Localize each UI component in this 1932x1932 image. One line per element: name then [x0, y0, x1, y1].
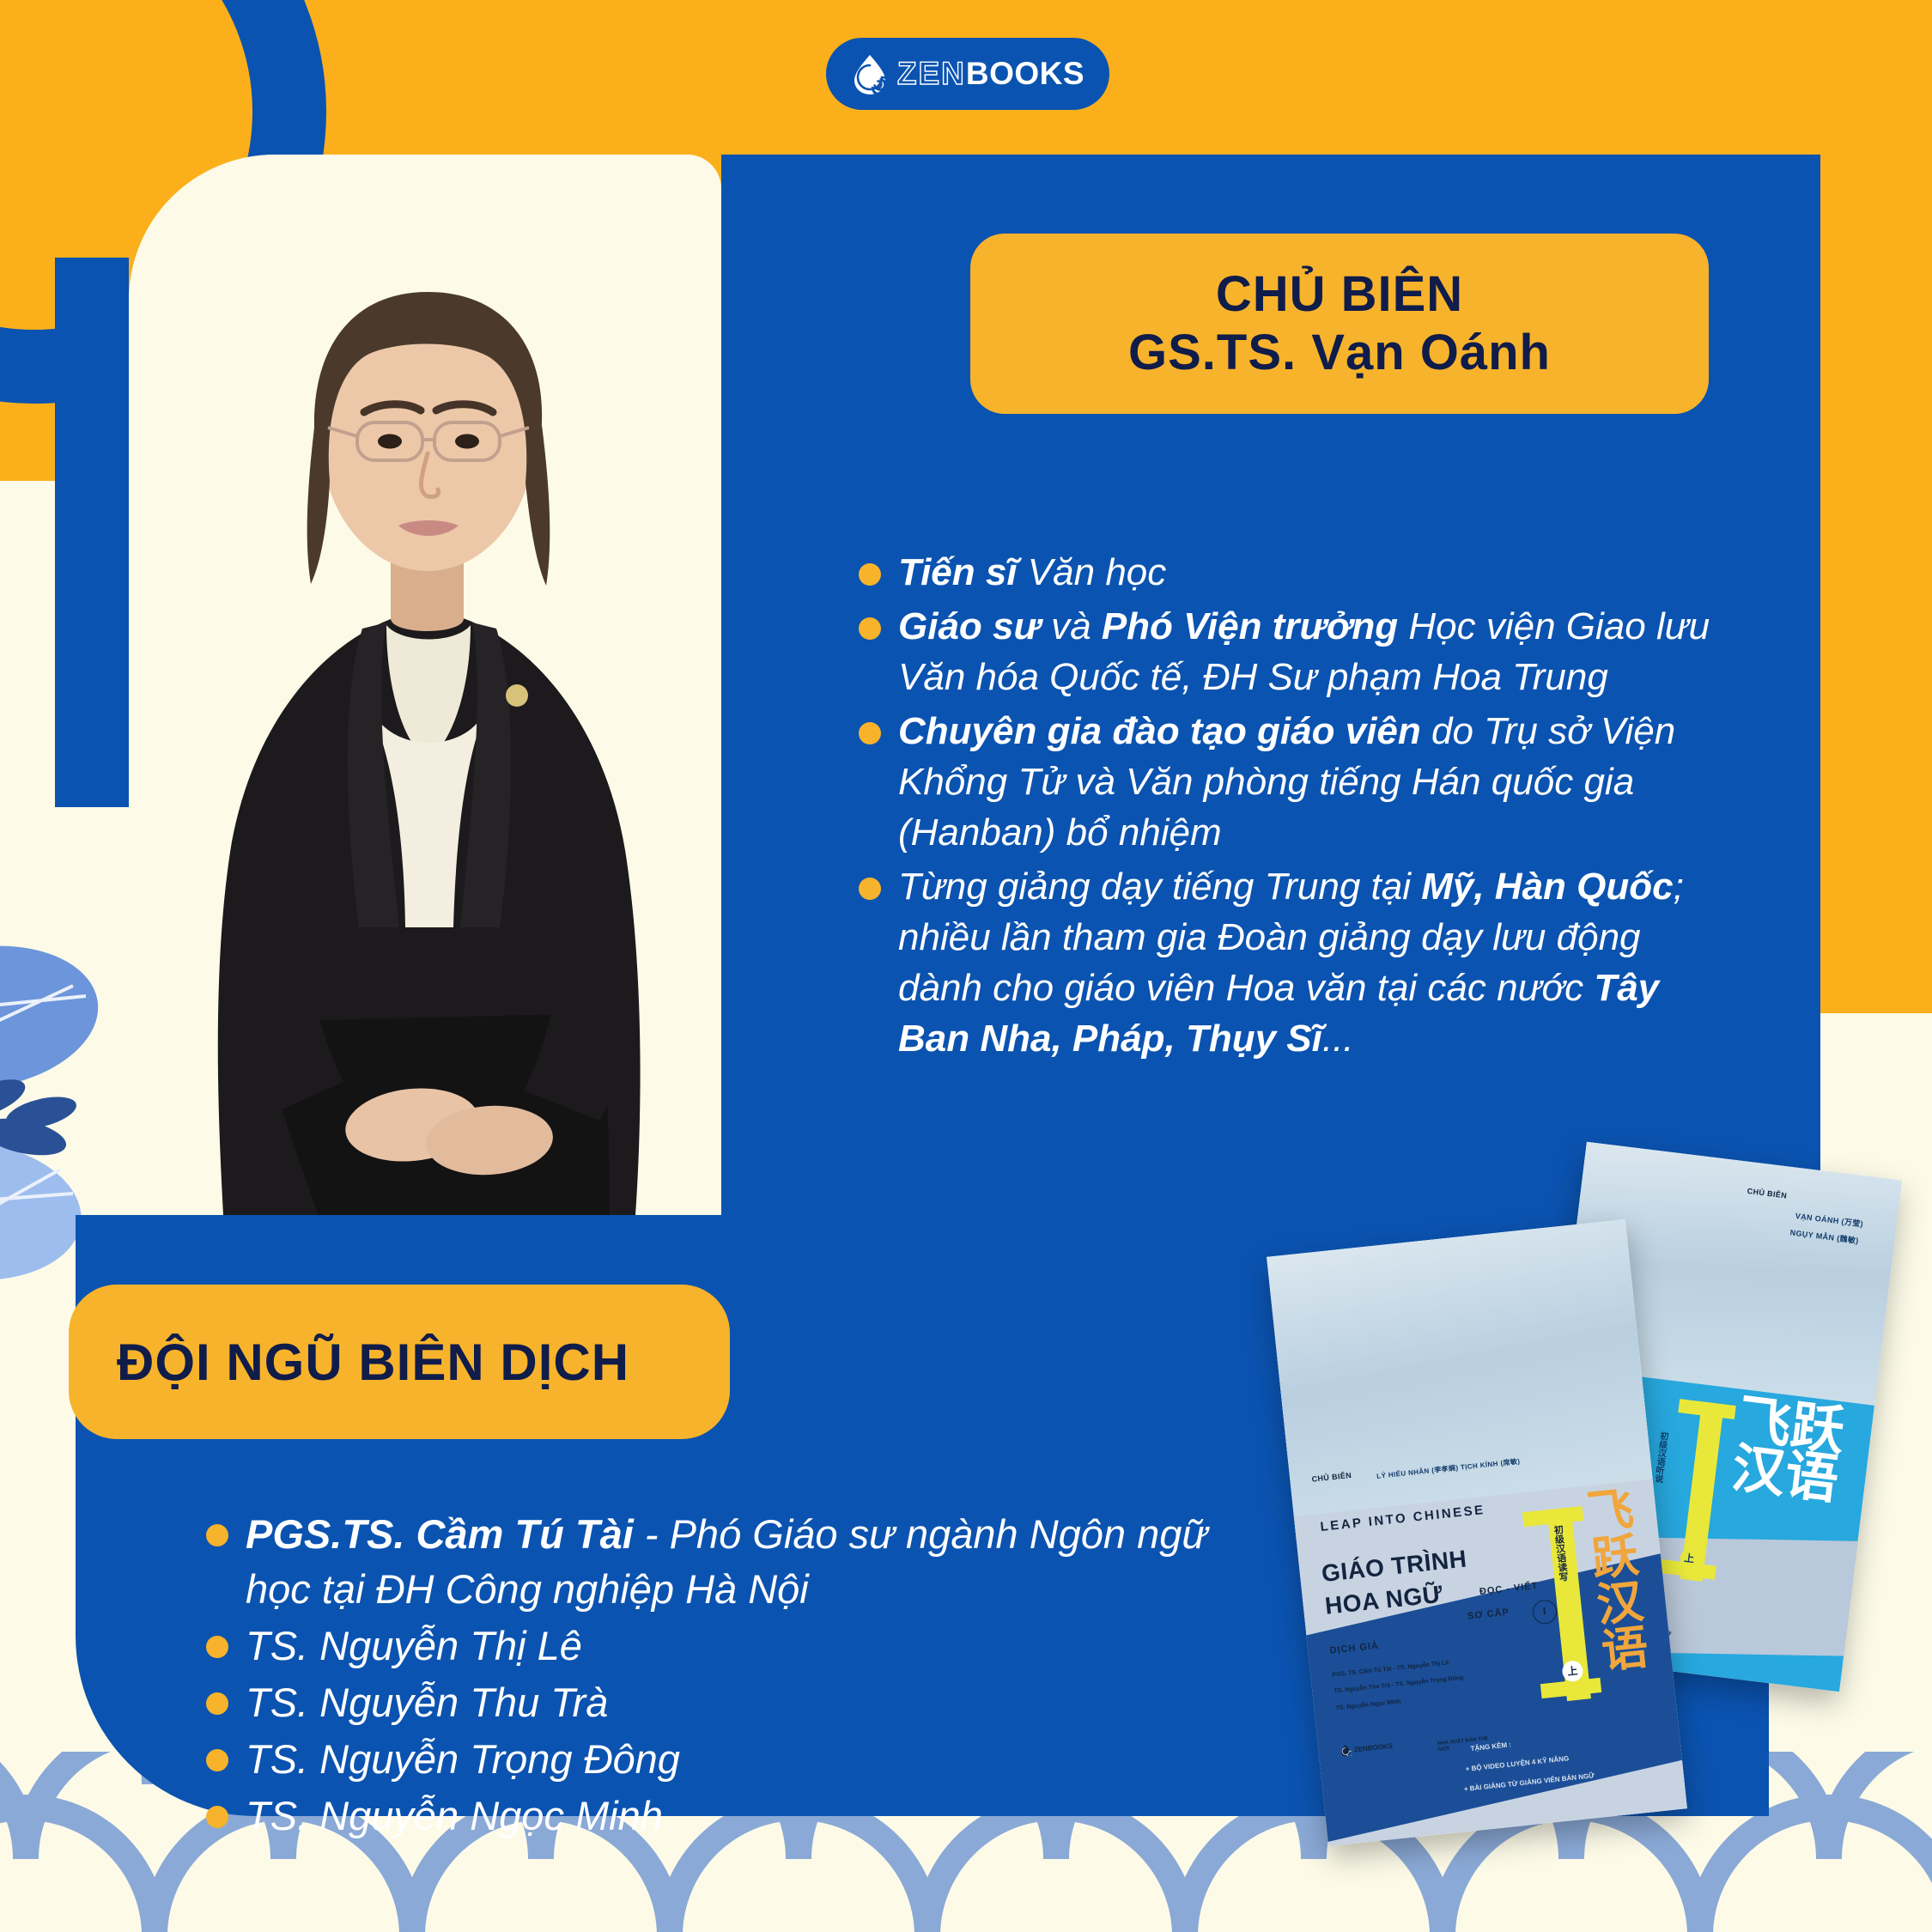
- bio-text: Tiến sĩ Văn học: [898, 548, 1166, 598]
- editor-bio-list: Tiến sĩ Văn học Giáo sư và Phó Viện trưở…: [859, 548, 1726, 1068]
- blue-right-band-decor: [1767, 155, 1820, 1279]
- logo-zen-text: ZEN: [897, 56, 966, 92]
- team-member-list: PGS.TS. Cầm Tú Tài - Phó Giáo sư ngành N…: [206, 1507, 1219, 1844]
- blue-ring-stem-decor: [55, 258, 129, 807]
- bullet-dot-icon: [206, 1806, 228, 1828]
- bio-text: Chuyên gia đào tạo giáo viên do Trụ sở V…: [898, 707, 1726, 859]
- editor-title-box: CHỦ BIÊN GS.TS. Vạn Oánh: [970, 234, 1709, 414]
- list-item: TS. Nguyễn Thị Lê: [206, 1619, 1219, 1674]
- bullet-dot-icon: [859, 617, 881, 640]
- bullet-dot-icon: [206, 1524, 228, 1546]
- team-member-text: TS. Nguyễn Thị Lê: [246, 1619, 582, 1674]
- bio-text: Giáo sư và Phó Viện trưởng Học viện Giao…: [898, 602, 1726, 703]
- zenbooks-wordmark: ZEN BOOKS: [897, 56, 1084, 92]
- bullet-dot-icon: [206, 1692, 228, 1715]
- team-member-text: TS. Nguyễn Ngọc Minh: [246, 1789, 663, 1844]
- spiral-droplet-icon: [851, 53, 889, 94]
- spiral-droplet-icon: [1340, 1744, 1352, 1757]
- bullet-dot-icon: [206, 1636, 228, 1658]
- logo-books-text: BOOKS: [966, 56, 1084, 92]
- book-back-cn-title: 飞跃汉语: [1729, 1395, 1874, 1509]
- book-front-publisher-name: ZENBOOKS: [1353, 1741, 1393, 1753]
- list-item: TS. Nguyễn Thu Trà: [206, 1675, 1219, 1730]
- book-front-lower: LEAP INTO CHINESE GIÁO TRÌNH HOA NGỮ ĐỌC…: [1294, 1479, 1687, 1846]
- avatar: [129, 155, 721, 1215]
- editor-name: GS.TS. Vạn Oánh: [1128, 324, 1551, 382]
- bullet-dot-icon: [859, 722, 881, 744]
- zenbooks-logo[interactable]: ZEN BOOKS: [826, 38, 1109, 110]
- team-member-text: TS. Nguyễn Thu Trà: [246, 1675, 608, 1730]
- team-heading-label: ĐỘI NGŨ BIÊN DỊCH: [69, 1333, 629, 1392]
- page-title: CHỦ BIÊN: [1216, 265, 1463, 324]
- list-item: PGS.TS. Cầm Tú Tài - Phó Giáo sư ngành N…: [206, 1507, 1219, 1617]
- bullet-dot-icon: [859, 878, 881, 900]
- team-member-text: TS. Nguyễn Trọng Đông: [246, 1732, 680, 1787]
- book-mockups: CHỦ BIÊN VẠN OÁNH (万莹) NGỤY MẪN (魏敏) 初级汉…: [1271, 1159, 1923, 1846]
- list-item: TS. Nguyễn Ngọc Minh: [206, 1789, 1219, 1844]
- team-heading-box: ĐỘI NGŨ BIÊN DỊCH: [69, 1285, 730, 1439]
- book-back-cn-vertical: 初级汉语听说: [1650, 1431, 1669, 1484]
- portrait-card: [129, 155, 721, 1215]
- list-item: Giáo sư và Phó Viện trưởng Học viện Giao…: [859, 602, 1726, 703]
- book-cover-doc-viet[interactable]: CHỦ BIÊN LÝ HIẾU NHÂN (李孝娴) TỊCH KÍNH (席…: [1267, 1219, 1687, 1846]
- bullet-dot-icon: [206, 1749, 228, 1771]
- list-item: Chuyên gia đào tạo giáo viên do Trụ sở V…: [859, 707, 1726, 859]
- bullet-dot-icon: [859, 563, 881, 586]
- book-front-title-1: GIÁO TRÌNH: [1321, 1545, 1468, 1588]
- bio-text: Từng giảng dạy tiếng Trung tại Mỹ, Hàn Q…: [898, 862, 1726, 1065]
- team-member-text: PGS.TS. Cầm Tú Tài - Phó Giáo sư ngành N…: [246, 1507, 1219, 1617]
- list-item: Tiến sĩ Văn học: [859, 548, 1726, 598]
- poster-canvas: ZEN BOOKS: [0, 0, 1932, 1932]
- list-item: TS. Nguyễn Trọng Đông: [206, 1732, 1219, 1787]
- list-item: Từng giảng dạy tiếng Trung tại Mỹ, Hàn Q…: [859, 862, 1726, 1065]
